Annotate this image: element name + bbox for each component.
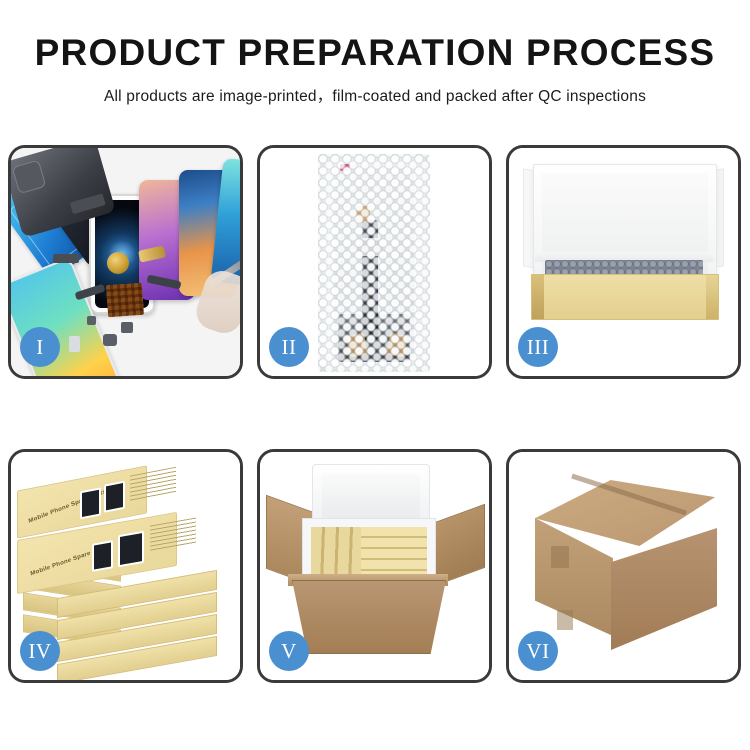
box-screen-image [104, 481, 125, 513]
box-screen-image [80, 487, 101, 519]
process-step-panel-2[interactable]: II [257, 145, 492, 379]
carton-tab-upper [551, 546, 569, 568]
process-step-panel-3[interactable]: III [506, 145, 741, 379]
box-spec-lines [150, 518, 196, 552]
step-badge-4: IV [20, 631, 60, 671]
process-step-panel-5[interactable]: V [257, 449, 492, 683]
carton-front-panel [292, 580, 446, 654]
step-badge-5: V [269, 631, 309, 671]
chip-array-icon [106, 283, 144, 317]
photo-phones-and-parts: I [11, 148, 240, 376]
photo-sealed-carton: VI [509, 452, 738, 680]
process-step-panel-6[interactable]: VI [506, 449, 741, 683]
yellow-box-body [531, 274, 719, 320]
photo-stacked-retail-boxes: Mobile Phone Spare Parts Mobile Phone Sp… [11, 452, 240, 680]
photo-foam-lined-box: III [509, 148, 738, 376]
bubble-bag [318, 154, 430, 372]
yellow-boxes-row-secondary [361, 527, 427, 579]
box-screen-image [92, 540, 113, 572]
box-spec-lines [130, 467, 176, 502]
product-preparation-page: PRODUCT PREPARATION PROCESS All products… [0, 0, 750, 750]
process-step-panel-1[interactable]: I [8, 145, 243, 379]
bubble-texture [318, 154, 430, 372]
page-subtitle: All products are image-printed，film-coat… [0, 84, 750, 106]
bracket-part-icon [121, 322, 133, 333]
sim-tray-icon [69, 336, 80, 352]
camera-part-icon [103, 334, 117, 346]
carton-tab-lower [557, 610, 573, 630]
page-header: PRODUCT PREPARATION PROCESS All products… [0, 0, 750, 106]
box-screen-image [118, 531, 144, 568]
step-badge-2: II [269, 327, 309, 367]
speaker-component-icon [107, 252, 129, 274]
step-badge-6: VI [518, 631, 558, 671]
carton-right-face [611, 528, 717, 650]
small-part-icon [53, 254, 79, 263]
photo-bubble-wrapped-screen: II [260, 148, 489, 376]
step-badge-3: III [518, 327, 558, 367]
process-step-grid: I II [8, 145, 742, 683]
page-title: PRODUCT PREPARATION PROCESS [0, 34, 750, 73]
process-step-panel-4[interactable]: Mobile Phone Spare Parts Mobile Phone Sp… [8, 449, 243, 683]
screw-part-icon [87, 316, 96, 325]
step-badge-1: I [20, 327, 60, 367]
photo-carton-packing: V [260, 452, 489, 680]
